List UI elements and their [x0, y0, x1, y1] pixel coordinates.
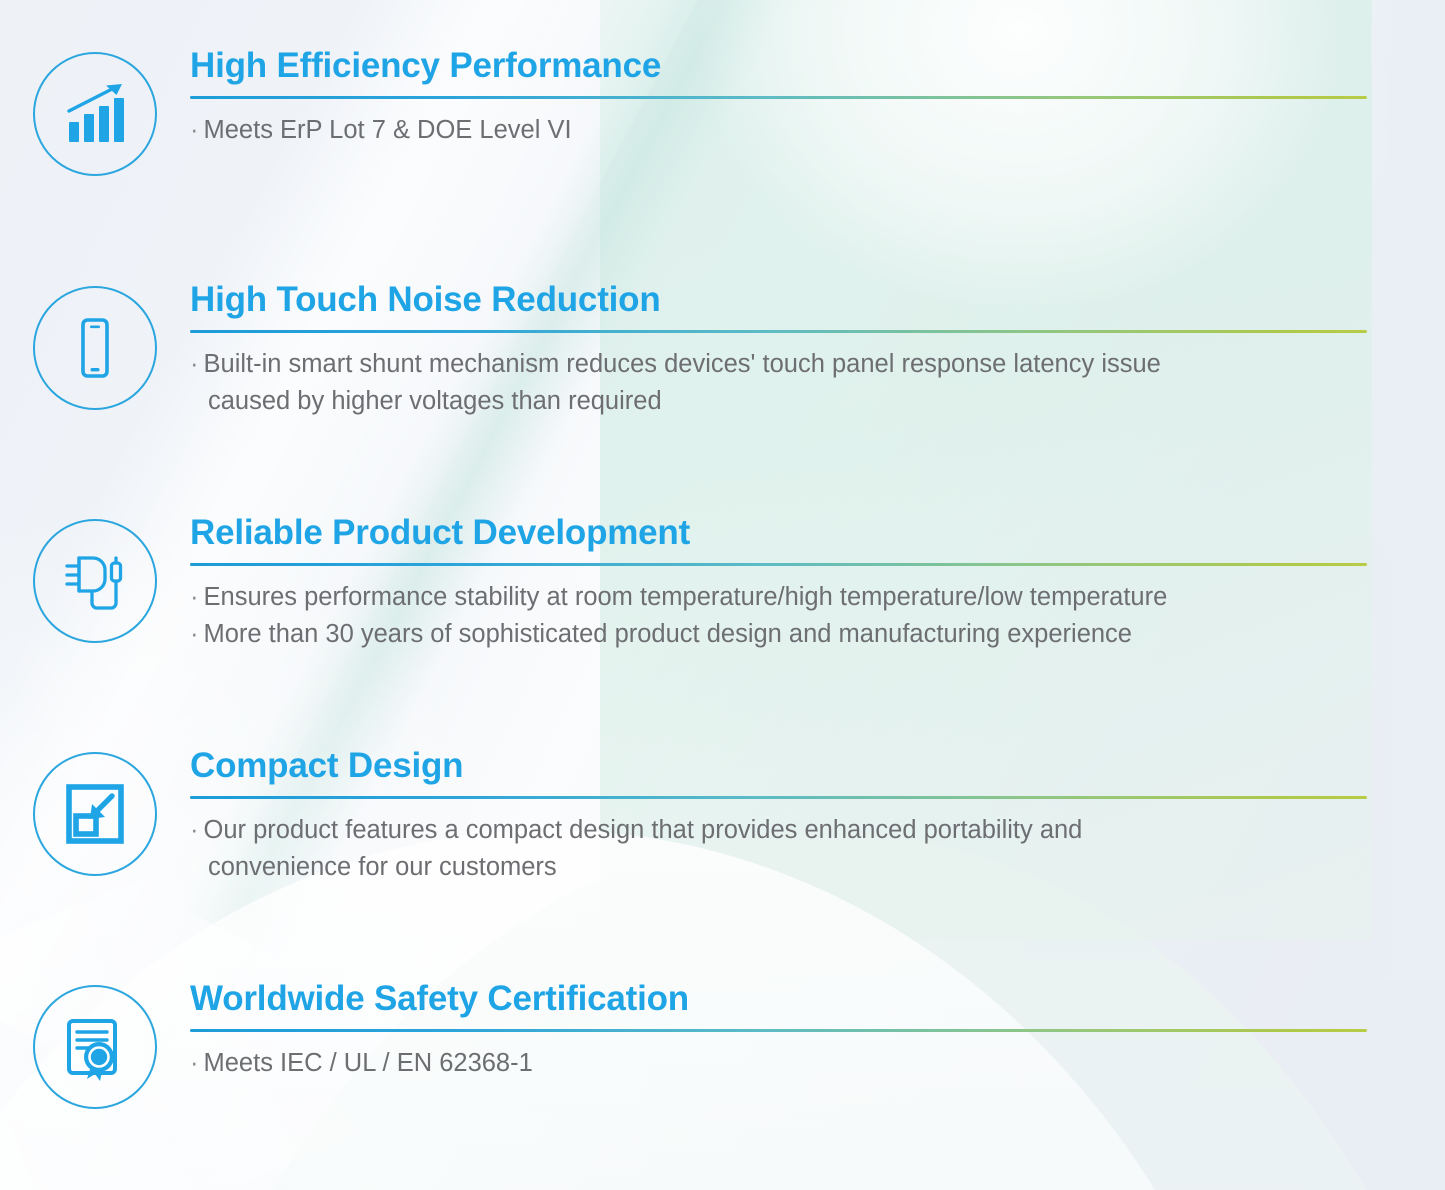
feature-text-block: Reliable Product Development ·Ensures pe…	[190, 515, 1445, 654]
power-adapter-icon	[33, 519, 157, 643]
feature-text-block: Compact Design ·Our product features a c…	[190, 748, 1445, 887]
feature-icon-container	[0, 748, 190, 876]
smartphone-icon	[33, 286, 157, 410]
feature-bullet-line: ·Meets ErP Lot 7 & DOE Level VI	[190, 112, 1367, 149]
feature-text-block: High Efficiency Performance ·Meets ErP L…	[190, 48, 1445, 149]
bullet-marker: ·	[190, 1049, 199, 1077]
feature-text-block: High Touch Noise Reduction ·Built-in sma…	[190, 282, 1445, 421]
feature-divider	[190, 330, 1367, 333]
feature-line-text: Ensures performance stability at room te…	[204, 583, 1168, 611]
feature-row-high-touch-noise-reduction: High Touch Noise Reduction ·Built-in sma…	[0, 282, 1445, 421]
feature-icon-container	[0, 48, 190, 176]
certificate-seal-icon	[33, 985, 157, 1109]
feature-line-text: Meets ErP Lot 7 & DOE Level VI	[204, 116, 572, 144]
feature-divider	[190, 1029, 1367, 1032]
feature-highlights-poster: High Efficiency Performance ·Meets ErP L…	[0, 0, 1445, 1190]
feature-title: High Touch Noise Reduction	[190, 282, 1367, 319]
feature-text-block: Worldwide Safety Certification ·Meets IE…	[190, 981, 1445, 1082]
feature-line-text: convenience for our customers	[190, 849, 1367, 886]
feature-title: Reliable Product Development	[190, 515, 1367, 552]
feature-bullet-line: ·Meets IEC / UL / EN 62368-1	[190, 1045, 1367, 1082]
feature-row-high-efficiency-performance: High Efficiency Performance ·Meets ErP L…	[0, 48, 1445, 176]
feature-row-compact-design: Compact Design ·Our product features a c…	[0, 748, 1445, 887]
bullet-marker: ·	[190, 620, 199, 648]
feature-line-text: Our product features a compact design th…	[204, 816, 1083, 844]
feature-row-worldwide-safety-certification: Worldwide Safety Certification ·Meets IE…	[0, 981, 1445, 1109]
feature-description: ·Built-in smart shunt mechanism reduces …	[190, 346, 1367, 421]
bullet-marker: ·	[190, 350, 199, 378]
feature-title: Compact Design	[190, 748, 1367, 785]
feature-icon-container	[0, 515, 190, 643]
feature-continuation-line: convenience for our customers	[190, 849, 1367, 886]
feature-bullet-line: ·Built-in smart shunt mechanism reduces …	[190, 346, 1367, 383]
feature-line-text: caused by higher voltages than required	[190, 383, 1367, 420]
feature-title: High Efficiency Performance	[190, 48, 1367, 85]
feature-divider	[190, 96, 1367, 99]
feature-description: ·Our product features a compact design t…	[190, 812, 1367, 887]
feature-divider	[190, 796, 1367, 799]
feature-bullet-line: ·Our product features a compact design t…	[190, 812, 1367, 849]
feature-line-text: Meets IEC / UL / EN 62368-1	[204, 1049, 533, 1077]
feature-bullet-line: ·Ensures performance stability at room t…	[190, 579, 1367, 616]
feature-description: ·Meets ErP Lot 7 & DOE Level VI	[190, 112, 1367, 149]
feature-continuation-line: caused by higher voltages than required	[190, 383, 1367, 420]
feature-line-text: Built-in smart shunt mechanism reduces d…	[204, 350, 1161, 378]
feature-description: ·Ensures performance stability at room t…	[190, 579, 1367, 654]
feature-divider	[190, 563, 1367, 566]
bullet-marker: ·	[190, 116, 199, 144]
bullet-marker: ·	[190, 583, 199, 611]
feature-line-text: More than 30 years of sophisticated prod…	[204, 620, 1132, 648]
feature-icon-container	[0, 282, 190, 410]
feature-row-reliable-product-development: Reliable Product Development ·Ensures pe…	[0, 515, 1445, 654]
feature-description: ·Meets IEC / UL / EN 62368-1	[190, 1045, 1367, 1082]
bullet-marker: ·	[190, 816, 199, 844]
resize-compact-icon	[33, 752, 157, 876]
feature-bullet-line: ·More than 30 years of sophisticated pro…	[190, 616, 1367, 653]
feature-icon-container	[0, 981, 190, 1109]
bar-chart-growth-icon	[33, 52, 157, 176]
feature-title: Worldwide Safety Certification	[190, 981, 1367, 1018]
